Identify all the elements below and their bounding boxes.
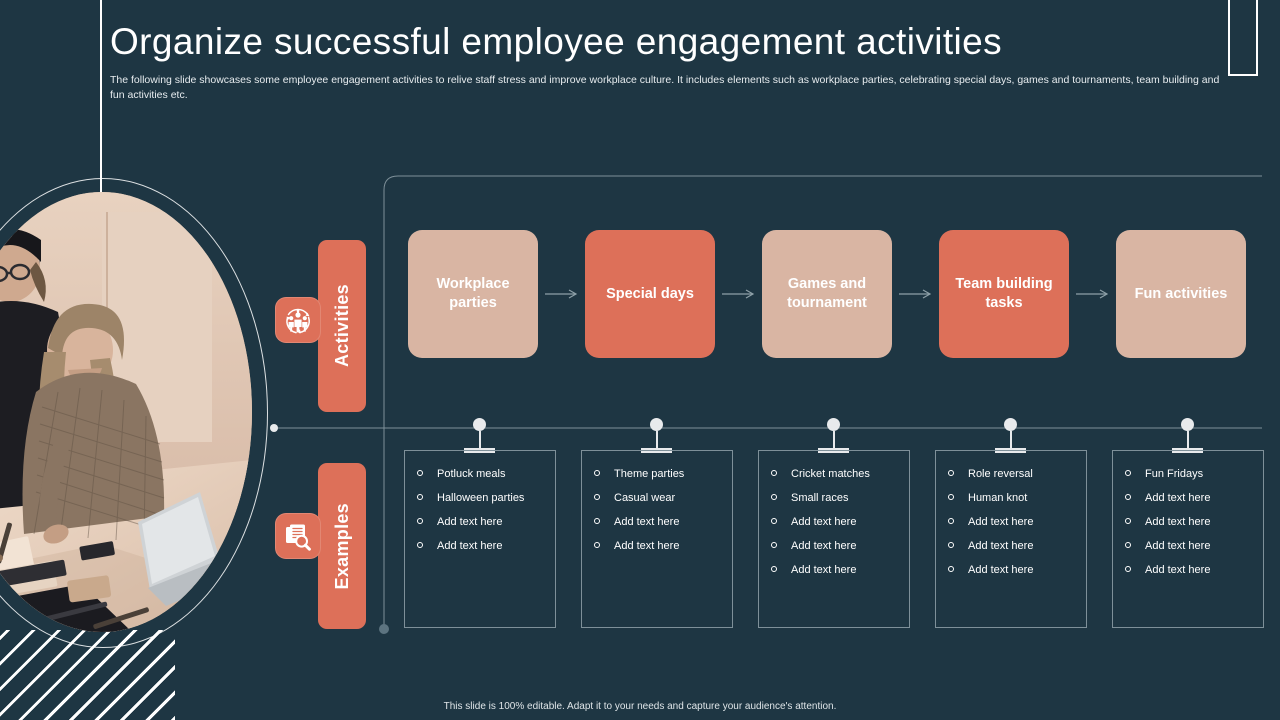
bullet-circle-icon	[948, 566, 954, 572]
timeline-pin-marker	[464, 418, 495, 453]
bullet-circle-icon	[771, 566, 777, 572]
list-item-label: Add text here	[1145, 540, 1210, 552]
list-item-label: Add text here	[791, 564, 856, 576]
list-item[interactable]: Small races	[769, 491, 903, 505]
list-item[interactable]: Add text here	[769, 539, 903, 553]
list-item-label: Add text here	[968, 564, 1033, 576]
slide-header: Organize successful employee engagement …	[110, 22, 1230, 103]
timeline-pin-marker	[995, 418, 1026, 453]
document-magnifier-icon	[275, 513, 321, 559]
example-list: Potluck mealsHalloween partiesAdd text h…	[415, 467, 549, 553]
list-item[interactable]: Add text here	[592, 515, 726, 529]
bullet-circle-icon	[771, 470, 777, 476]
list-item-label: Add text here	[1145, 564, 1210, 576]
decorative-corner-bracket	[1228, 0, 1258, 76]
list-item-label: Add text here	[791, 516, 856, 528]
pin-stem	[1010, 431, 1012, 448]
sidebar-label-activities[interactable]: Activities	[318, 240, 366, 412]
list-item-label: Add text here	[791, 540, 856, 552]
bullet-circle-icon	[417, 470, 423, 476]
list-item-label: Add text here	[437, 516, 502, 528]
page-title: Organize successful employee engagement …	[110, 22, 1230, 63]
footer-note: This slide is 100% editable. Adapt it to…	[0, 701, 1280, 712]
bullet-circle-icon	[594, 542, 600, 548]
bullet-circle-icon	[1125, 542, 1131, 548]
list-item[interactable]: Fun Fridays	[1123, 467, 1257, 481]
list-item[interactable]: Theme parties	[592, 467, 726, 481]
activity-card-label: Workplace parties	[418, 275, 528, 312]
people-celebrate-cycle-icon	[275, 297, 321, 343]
bullet-circle-icon	[417, 518, 423, 524]
pin-knob	[1004, 418, 1017, 431]
list-item[interactable]: Add text here	[415, 515, 549, 529]
list-item-label: Add text here	[614, 516, 679, 528]
list-item[interactable]: Add text here	[592, 539, 726, 553]
list-item-label: Theme parties	[614, 468, 684, 480]
list-item-label: Add text here	[968, 540, 1033, 552]
list-item-label: Potluck meals	[437, 468, 505, 480]
bullet-circle-icon	[1125, 566, 1131, 572]
example-box[interactable]: Fun FridaysAdd text hereAdd text hereAdd…	[1112, 450, 1264, 628]
list-item[interactable]: Add text here	[946, 515, 1080, 529]
pin-knob	[1181, 418, 1194, 431]
activity-card[interactable]: Special days	[585, 230, 715, 358]
bullet-circle-icon	[771, 518, 777, 524]
example-list: Theme partiesCasual wearAdd text hereAdd…	[592, 467, 726, 553]
sidebar-label-examples-text: Examples	[332, 503, 353, 589]
list-item-label: Fun Fridays	[1145, 468, 1203, 480]
bullet-circle-icon	[948, 518, 954, 524]
timeline-end-dot	[379, 624, 389, 634]
list-item[interactable]: Halloween parties	[415, 491, 549, 505]
example-list: Role reversalHuman knotAdd text hereAdd …	[946, 467, 1080, 577]
pin-knob	[473, 418, 486, 431]
list-item[interactable]: Add text here	[946, 539, 1080, 553]
list-item[interactable]: Add text here	[1123, 491, 1257, 505]
list-item[interactable]: Cricket matches	[769, 467, 903, 481]
list-item-label: Add text here	[614, 540, 679, 552]
pin-stem	[833, 431, 835, 448]
timeline-pin-marker	[641, 418, 672, 453]
bullet-circle-icon	[1125, 518, 1131, 524]
pin-knob	[827, 418, 840, 431]
list-item-label: Small races	[791, 492, 848, 504]
decorative-arc-ring	[0, 178, 268, 648]
bullet-circle-icon	[948, 470, 954, 476]
activity-card-label: Team building tasks	[949, 275, 1059, 312]
bullet-circle-icon	[948, 542, 954, 548]
list-item[interactable]: Add text here	[769, 563, 903, 577]
sidebar-label-examples[interactable]: Examples	[318, 463, 366, 629]
page-subtitle: The following slide showcases some emplo…	[110, 73, 1220, 103]
timeline-start-dot	[270, 424, 278, 432]
pin-stem	[1187, 431, 1189, 448]
list-item-label: Add text here	[968, 516, 1033, 528]
bullet-circle-icon	[1125, 494, 1131, 500]
pin-knob	[650, 418, 663, 431]
bullet-circle-icon	[594, 470, 600, 476]
list-item[interactable]: Add text here	[769, 515, 903, 529]
example-list: Fun FridaysAdd text hereAdd text hereAdd…	[1123, 467, 1257, 577]
list-item-label: Cricket matches	[791, 468, 870, 480]
list-item[interactable]: Add text here	[1123, 539, 1257, 553]
list-item-label: Halloween parties	[437, 492, 524, 504]
list-item-label: Human knot	[968, 492, 1027, 504]
bullet-circle-icon	[771, 494, 777, 500]
example-list: Cricket matchesSmall racesAdd text hereA…	[769, 467, 903, 577]
example-box[interactable]: Potluck mealsHalloween partiesAdd text h…	[404, 450, 556, 628]
bullet-circle-icon	[417, 542, 423, 548]
bullet-circle-icon	[594, 518, 600, 524]
example-box[interactable]: Role reversalHuman knotAdd text hereAdd …	[935, 450, 1087, 628]
list-item[interactable]: Potluck meals	[415, 467, 549, 481]
timeline-pin-marker	[818, 418, 849, 453]
list-item[interactable]: Add text here	[946, 563, 1080, 577]
activity-card[interactable]: Games and tournament	[762, 230, 892, 358]
activity-card-label: Games and tournament	[772, 275, 882, 312]
activity-card[interactable]: Workplace parties	[408, 230, 538, 358]
list-item[interactable]: Human knot	[946, 491, 1080, 505]
bullet-circle-icon	[1125, 470, 1131, 476]
bullet-circle-icon	[594, 494, 600, 500]
example-box[interactable]: Theme partiesCasual wearAdd text hereAdd…	[581, 450, 733, 628]
list-item[interactable]: Add text here	[415, 539, 549, 553]
list-item-label: Casual wear	[614, 492, 675, 504]
list-item[interactable]: Role reversal	[946, 467, 1080, 481]
bullet-circle-icon	[771, 542, 777, 548]
example-box[interactable]: Cricket matchesSmall racesAdd text hereA…	[758, 450, 910, 628]
timeline-pin-marker	[1172, 418, 1203, 453]
list-item[interactable]: Add text here	[1123, 563, 1257, 577]
activity-card[interactable]: Team building tasks	[939, 230, 1069, 358]
activity-card[interactable]: Fun activities	[1116, 230, 1246, 358]
pin-stem	[479, 431, 481, 448]
list-item-label: Add text here	[437, 540, 502, 552]
bullet-circle-icon	[948, 494, 954, 500]
list-item[interactable]: Add text here	[1123, 515, 1257, 529]
sidebar-label-activities-text: Activities	[332, 284, 353, 367]
list-item[interactable]: Casual wear	[592, 491, 726, 505]
decorative-vertical-line	[100, 0, 102, 204]
activity-card-label: Special days	[606, 285, 694, 304]
list-item-label: Add text here	[1145, 492, 1210, 504]
activity-card-label: Fun activities	[1135, 285, 1228, 304]
pin-stem	[656, 431, 658, 448]
list-item-label: Role reversal	[968, 468, 1033, 480]
list-item-label: Add text here	[1145, 516, 1210, 528]
bullet-circle-icon	[417, 494, 423, 500]
